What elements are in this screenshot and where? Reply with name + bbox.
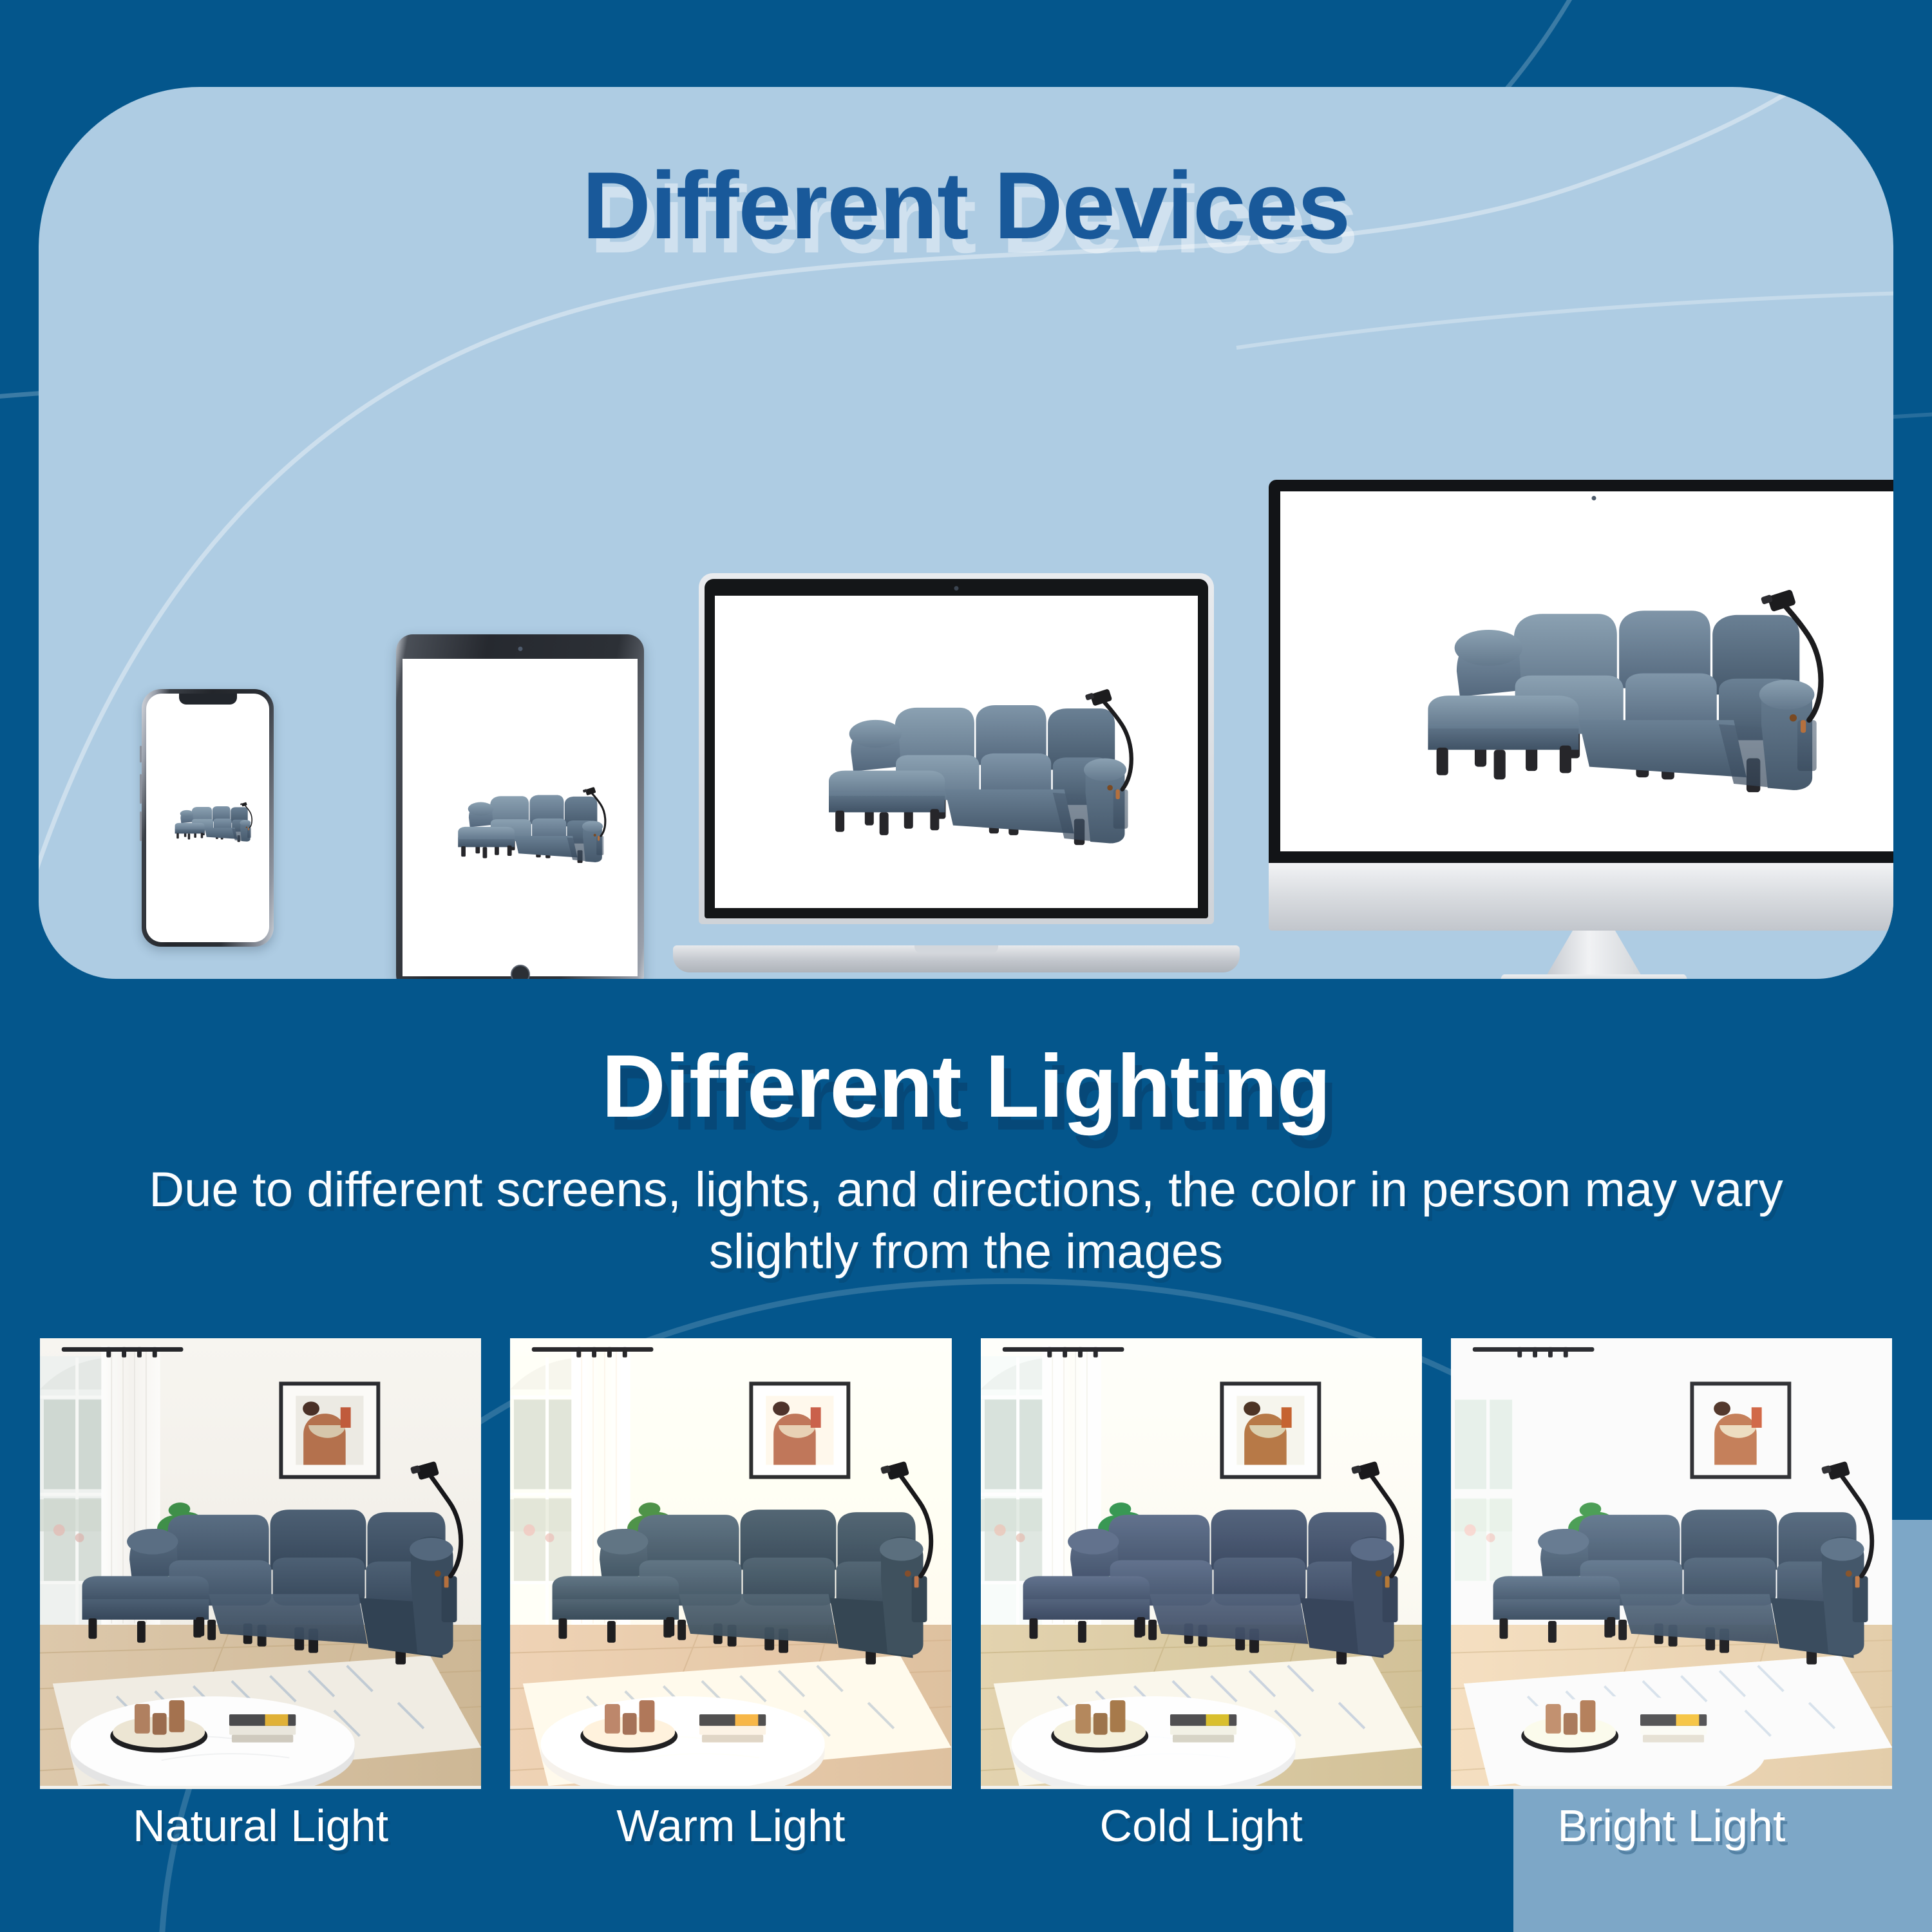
monitor-mockup[interactable]: [1269, 480, 1893, 979]
laptop-base: [673, 945, 1240, 972]
tablet-screen: [402, 659, 638, 976]
label-cold-light: Cold Light: [981, 1800, 1422, 1877]
phone-product-image: [146, 694, 269, 942]
thumbnail-cold-light[interactable]: [981, 1338, 1422, 1789]
laptop-webcam-icon: [954, 586, 959, 591]
phone-mockup[interactable]: [142, 689, 274, 947]
lighting-section-title: Different Lighting: [0, 1036, 1932, 1138]
thumbnail-warm-light[interactable]: [510, 1338, 951, 1789]
label-warm-light: Warm Light: [510, 1800, 951, 1877]
laptop-product-image: [715, 596, 1198, 908]
laptop-screen: [715, 596, 1198, 908]
laptop-lid: [699, 573, 1214, 924]
phone-volume-up-button: [140, 774, 142, 804]
laptop-mockup[interactable]: [673, 573, 1240, 972]
lighting-thumbnail-row: [40, 1338, 1892, 1789]
monitor-product-image: [1280, 491, 1893, 851]
phone-volume-down-button: [140, 811, 142, 841]
phone-screen: [146, 694, 269, 942]
label-bright-light: Bright Light: [1451, 1800, 1892, 1877]
label-natural-light: Natural Light: [40, 1800, 481, 1877]
devices-section-title: Different Devices: [39, 151, 1893, 261]
tablet-camera-icon: [518, 647, 522, 651]
monitor-stand-neck: [1546, 931, 1642, 977]
monitor-bezel: [1269, 480, 1893, 863]
monitor-screen: [1280, 491, 1893, 851]
tablet-product-image: [402, 659, 638, 976]
monitor-chin: [1269, 863, 1893, 931]
lighting-label-row: Natural Light Warm Light Cold Light Brig…: [40, 1800, 1892, 1877]
thumbnail-natural-light[interactable]: [40, 1338, 481, 1789]
phone-mute-button: [140, 746, 142, 762]
tablet-mockup[interactable]: [396, 634, 644, 979]
monitor-stand-foot: [1501, 974, 1687, 979]
thumbnail-bright-light[interactable]: [1451, 1338, 1892, 1789]
device-mockup-row: [39, 422, 1893, 976]
different-devices-panel: Different Devices: [39, 87, 1893, 979]
laptop-trackpad-notch: [914, 945, 998, 953]
tablet-home-button[interactable]: [511, 965, 530, 979]
laptop-bezel: [705, 579, 1208, 918]
lighting-section-subtitle: Due to different screens, lights, and di…: [77, 1159, 1855, 1283]
